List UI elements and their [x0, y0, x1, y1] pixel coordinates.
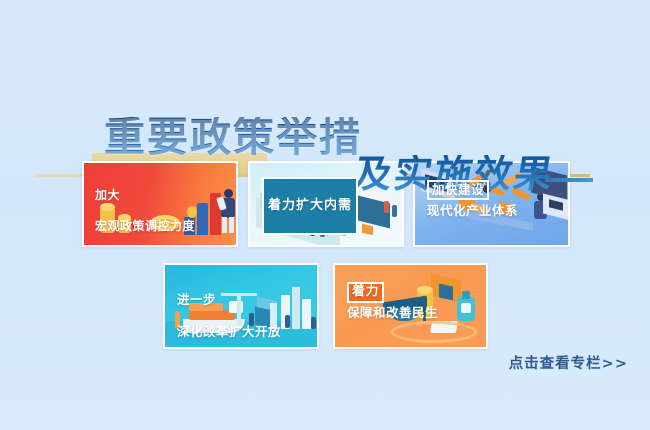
card-label-line1: 进一步: [177, 292, 281, 308]
card-modern-industry-label: 加快建设 现代化产业体系: [427, 164, 518, 235]
card-expand-demand-label: 着力扩大内需: [262, 177, 358, 235]
view-column-link[interactable]: 点击查看专栏>>: [509, 352, 628, 373]
card-label-line2: 现代化产业体系: [427, 203, 518, 219]
title-block: 重要政策举措 及实施效果: [0, 55, 650, 150]
card-macro-policy-label: 加大 宏观政策调控力度: [95, 173, 195, 247]
page-title-line1: 重要政策举措: [104, 117, 362, 158]
card-peoples-livelihood-label: 着力 保障和改善民生: [347, 266, 438, 337]
title-trailing-dash: [545, 178, 593, 182]
banner-stage: 重要政策举措 及实施效果 加大 宏观政策调控力度: [0, 0, 650, 430]
card-label-line1: 加快建设: [427, 180, 489, 200]
card-label-line2: 宏观政策调控力度: [95, 219, 195, 234]
card-label-line1: 着力: [347, 282, 384, 303]
card-reform-opening[interactable]: 进一步 深化改革扩大开放: [163, 263, 319, 349]
card-label-line2: 深化改革扩大开放: [177, 324, 281, 340]
card-macro-policy[interactable]: 加大 宏观政策调控力度: [82, 161, 238, 247]
card-peoples-livelihood[interactable]: 着力 保障和改善民生: [333, 263, 488, 349]
card-label-line1: 加大: [95, 188, 195, 203]
card-reform-opening-label: 进一步 深化改革扩大开放: [177, 276, 281, 349]
card-label-line1: 着力扩大内需: [268, 198, 352, 215]
card-label-line2: 保障和改善民生: [347, 305, 438, 321]
